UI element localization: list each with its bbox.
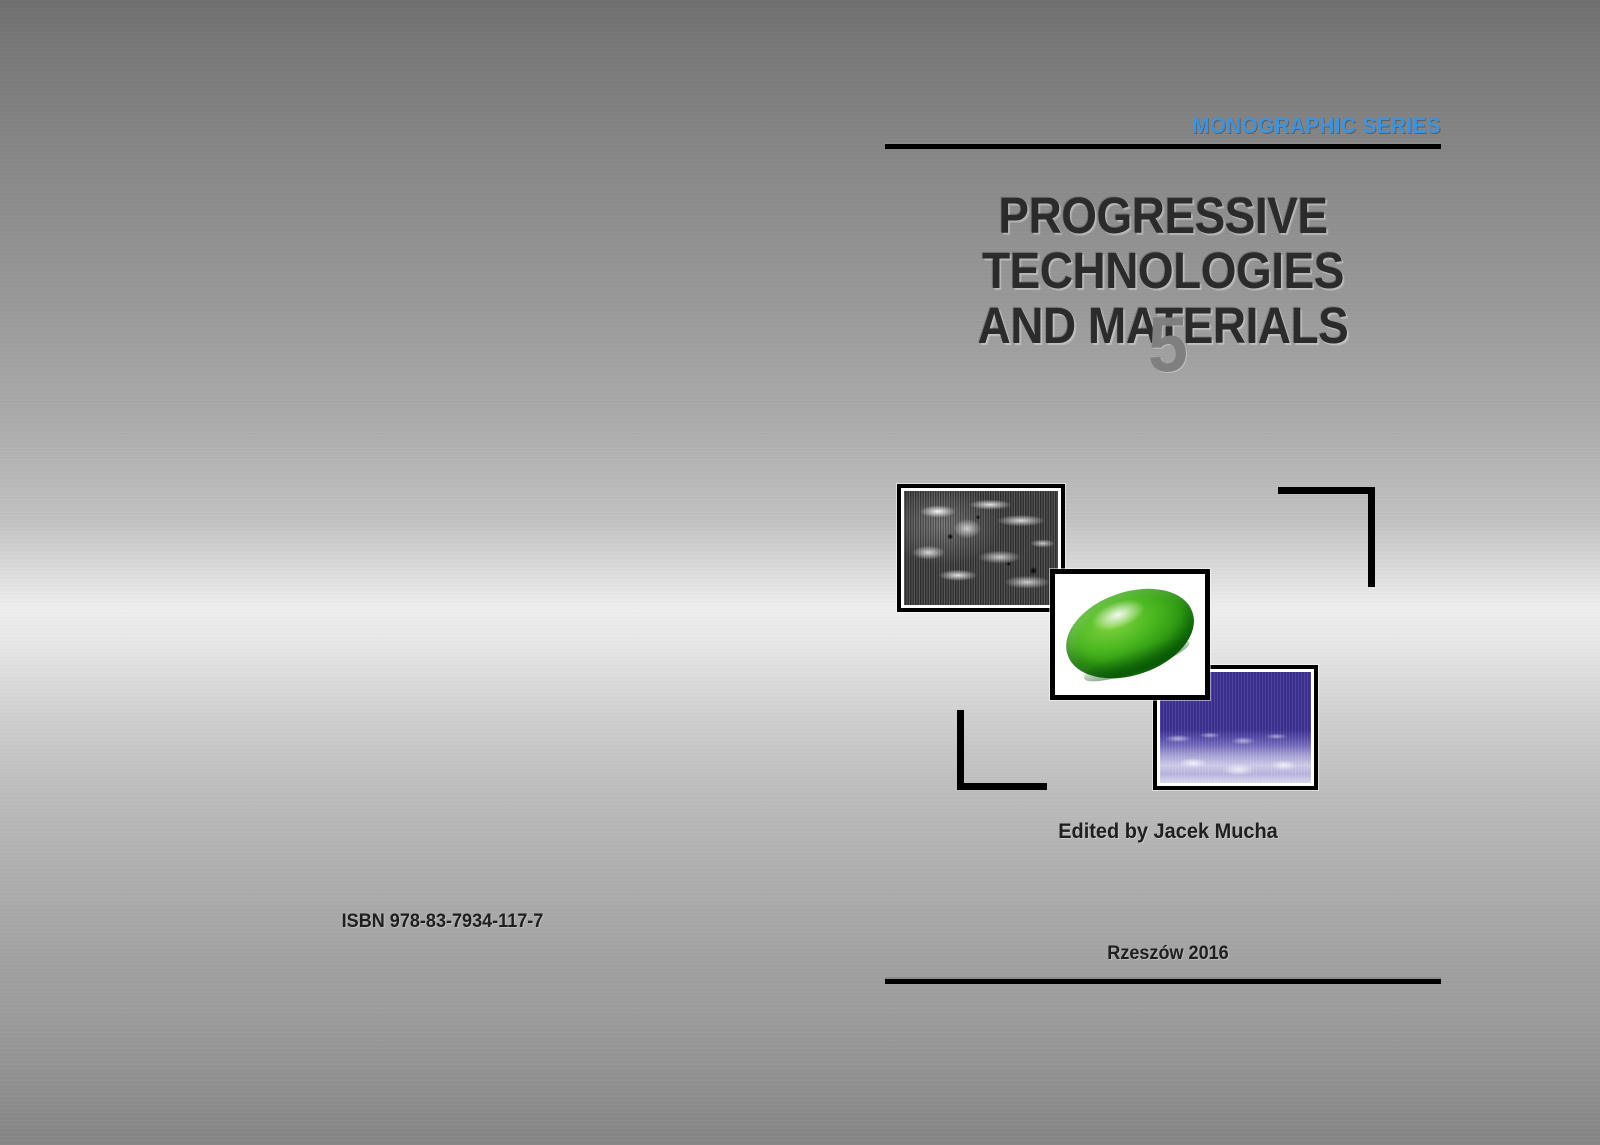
editor-credit: Edited by Jacek Mucha (899, 820, 1437, 844)
isbn-text: ISBN 978-83-7934-117-7 (22, 911, 863, 933)
sem-micrograph-image (897, 484, 1065, 612)
title-line-1: PROGRESSIVE TECHNOLOGIES (908, 188, 1417, 298)
sem-micrograph-inner (904, 491, 1058, 605)
book-cover: ISBN 978-83-7934-117-7 MONOGRAPHIC SERIE… (0, 0, 1600, 1145)
green-ellipsoid-image (1050, 569, 1210, 700)
bottom-left-corner-bracket (957, 710, 1047, 790)
top-divider-rule (885, 142, 1441, 149)
front-cover-panel: MONOGRAPHIC SERIES PROGRESSIVE TECHNOLOG… (885, 0, 1441, 1145)
cover-image-collage (885, 470, 1441, 810)
top-right-corner-bracket (1278, 487, 1375, 587)
green-ellipsoid-shape (1058, 577, 1202, 692)
bottom-divider-rule (885, 977, 1441, 984)
series-label: MONOGRAPHIC SERIES (924, 113, 1441, 139)
green-ellipsoid-stage (1058, 577, 1202, 692)
green-ellipsoid-inner (1058, 577, 1202, 692)
sem-fracture-texture (904, 491, 1058, 605)
volume-number: 5 (908, 305, 1429, 383)
place-and-year: Rzeszów 2016 (899, 943, 1437, 965)
